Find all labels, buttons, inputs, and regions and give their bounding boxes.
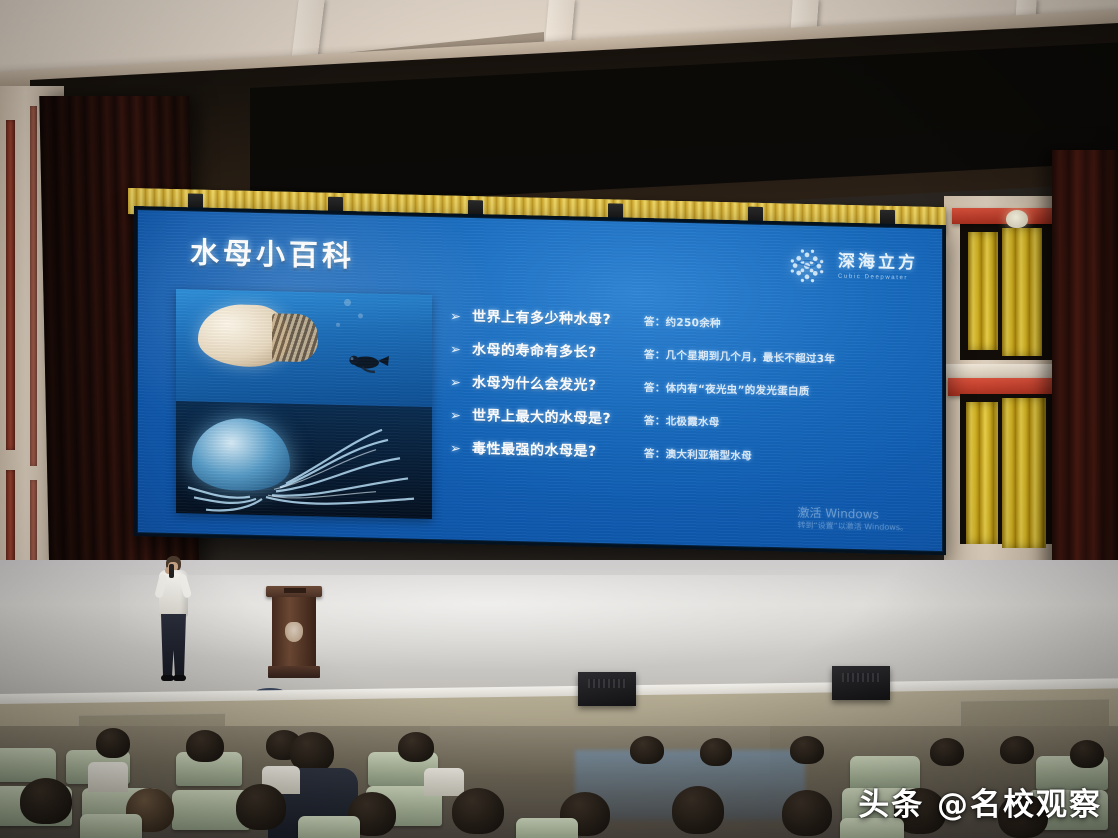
qa-row: ➢ 毒性最强的水母是? 答：澳大利亚箱型水母 xyxy=(450,437,926,468)
source-watermark: 头条 @名校观察 xyxy=(858,779,1102,824)
scuba-diver-icon xyxy=(346,351,390,376)
audience-head xyxy=(672,786,724,834)
audience-head xyxy=(782,790,832,836)
bullet-arrow-icon: ➢ xyxy=(450,309,472,325)
wall-trim xyxy=(6,120,15,450)
audience-head xyxy=(790,736,824,764)
audience-head xyxy=(452,788,504,834)
presenter-trousers xyxy=(161,614,186,676)
audience-head xyxy=(700,738,732,766)
audience-seat xyxy=(298,816,360,838)
qa-row: ➢ 世界上有多少种水母? 答：约250余种 xyxy=(450,305,926,336)
stage-monitor-speaker xyxy=(832,666,890,700)
logo-text: 深海立方 Cubic Deepwater xyxy=(838,254,918,282)
audience-person-shirt xyxy=(88,762,128,792)
right-wall-bays xyxy=(944,196,1066,616)
yellow-curtain-upper-left xyxy=(968,232,998,350)
microphone-icon xyxy=(169,564,174,578)
bullet-arrow-icon: ➢ xyxy=(450,342,472,358)
windows-activation-watermark: 激活 Windows 转到“设置”以激活 Windows。 xyxy=(797,505,908,535)
auditorium-photo: 水母小百科 xyxy=(0,0,1118,838)
bullet-arrow-icon: ➢ xyxy=(450,375,472,391)
audience-head xyxy=(96,728,130,758)
audience-head xyxy=(236,784,286,830)
audience-seat xyxy=(516,818,578,838)
monitor-grill xyxy=(842,673,879,681)
yellow-curtain-lower-right xyxy=(1002,398,1046,548)
qa-question: 水母的寿命有多长? xyxy=(472,339,644,363)
glowing-box-jellyfish-photo xyxy=(176,401,432,519)
wall-trim xyxy=(30,106,37,466)
audience-head xyxy=(20,778,72,824)
audience-head xyxy=(398,732,434,762)
logo-chinese-name: 深海立方 xyxy=(838,254,918,273)
jellyfish-with-diver-photo xyxy=(176,289,432,407)
stage-monitor-speaker xyxy=(578,672,636,706)
qa-answer: 答：北极霞水母 xyxy=(644,413,720,430)
audience-seat xyxy=(0,748,56,782)
led-screen: 水母小百科 xyxy=(134,206,946,555)
bubble xyxy=(358,313,363,318)
jellyfish-tentacles xyxy=(272,313,318,362)
podium-crest-emblem xyxy=(285,622,303,642)
bubble xyxy=(344,299,351,306)
bay-light-icon xyxy=(1006,210,1028,228)
audience-seat xyxy=(80,814,142,838)
slide-title: 水母小百科 xyxy=(190,229,355,275)
qa-question: 水母为什么会发光? xyxy=(472,372,644,396)
yellow-curtain-lower-left xyxy=(966,402,998,544)
audience-head xyxy=(1070,740,1104,768)
qa-list: ➢ 世界上有多少种水母? 答：约250余种 ➢ 水母的寿命有多长? 答：几个星期… xyxy=(450,305,926,481)
qa-question: 世界上最大的水母是? xyxy=(472,405,644,429)
qa-answer: 答：澳大利亚箱型水母 xyxy=(644,446,752,464)
slide-photos xyxy=(176,289,432,519)
audience-head xyxy=(186,730,224,762)
qa-answer: 答：约250余种 xyxy=(644,314,721,331)
coral-sphere-logo-icon xyxy=(785,243,829,288)
qa-row: ➢ 水母的寿命有多长? 答：几个星期到几个月，最长不超过3年 xyxy=(450,338,926,369)
bullet-arrow-icon: ➢ xyxy=(450,441,472,457)
box-jellyfish-tentacles xyxy=(176,401,432,519)
presentation-slide: 水母小百科 xyxy=(138,210,942,551)
qa-question: 毒性最强的水母是? xyxy=(472,438,644,462)
qa-row: ➢ 世界上最大的水母是? 答：北极霞水母 xyxy=(450,404,926,435)
logo-english-name: Cubic Deepwater xyxy=(838,274,918,282)
presenter-with-microphone xyxy=(156,556,190,684)
audience-head xyxy=(630,736,664,764)
bullet-arrow-icon: ➢ xyxy=(450,408,472,424)
yellow-curtain-upper-right xyxy=(1002,228,1042,356)
presenter-shoe xyxy=(173,675,186,681)
podium-notch xyxy=(284,588,306,593)
qa-row: ➢ 水母为什么会发光? 答：体内有“夜光虫”的发光蛋白质 xyxy=(450,371,926,402)
red-accent-band-upper xyxy=(952,208,1058,224)
monitor-grill xyxy=(588,679,625,687)
brand-logo: 深海立方 Cubic Deepwater xyxy=(785,243,918,290)
wooden-podium xyxy=(268,586,320,676)
bubble xyxy=(336,323,340,327)
qa-answer: 答：体内有“夜光虫”的发光蛋白质 xyxy=(644,380,810,399)
podium-base xyxy=(268,666,320,678)
audience-head xyxy=(1000,736,1034,764)
audience-head xyxy=(930,738,964,766)
audience-person-shirt xyxy=(424,768,464,796)
qa-answer: 答：几个星期到几个月，最长不超过3年 xyxy=(644,347,835,367)
qa-question: 世界上有多少种水母? xyxy=(472,306,644,330)
windows-watermark-line2: 转到“设置”以激活 Windows。 xyxy=(797,521,908,534)
